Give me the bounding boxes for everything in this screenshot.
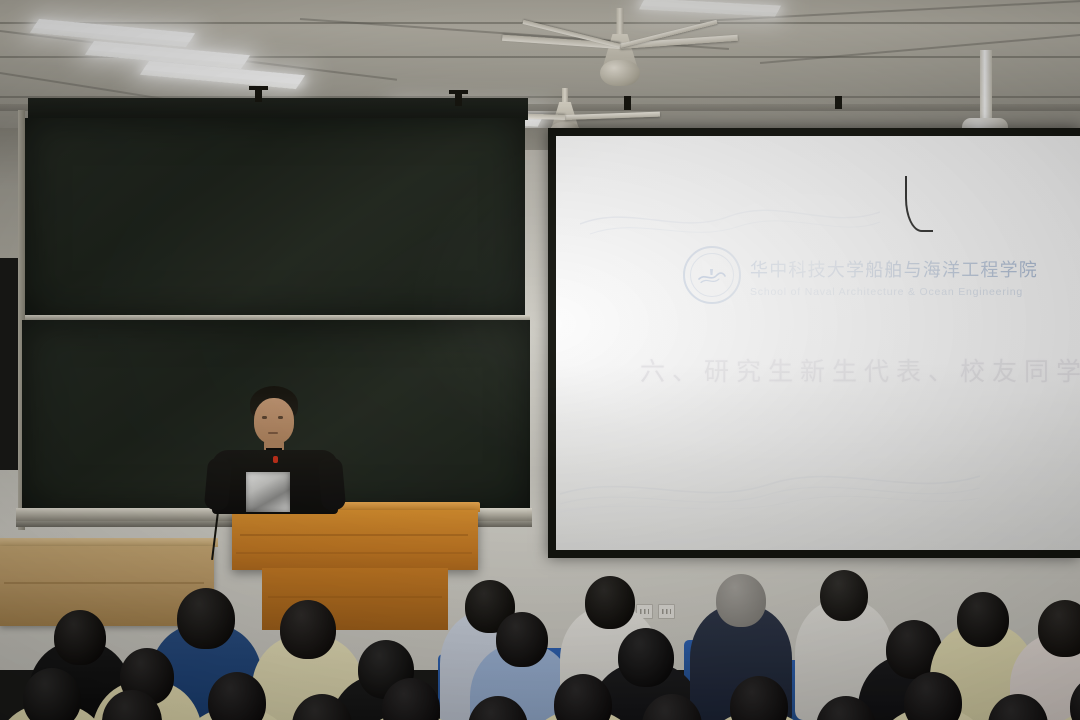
attendee-head <box>642 694 702 720</box>
ceiling-hook <box>624 96 631 110</box>
slide-organization-en: School of Naval Architecture & Ocean Eng… <box>750 286 1023 298</box>
attendee-head <box>554 674 612 720</box>
hust-naval-school-emblem <box>683 246 741 304</box>
ceiling-fan <box>560 8 680 78</box>
attendee-head <box>820 570 868 621</box>
attendee-head <box>816 696 876 720</box>
wall-power-outlet[interactable] <box>658 604 675 619</box>
speaker-eye <box>262 416 267 419</box>
attendee-b2 <box>72 690 192 720</box>
attendee-head <box>177 588 235 649</box>
attendee-head <box>988 694 1048 720</box>
projector-mount-pole <box>980 50 992 124</box>
attendee-head <box>382 678 440 720</box>
attendee-head <box>957 592 1009 647</box>
speaker-shirt-graphic <box>246 472 290 512</box>
slide-organization-cn: 华中科技大学船舶与海洋工程学院 <box>750 256 1038 282</box>
attendee-head <box>730 676 788 720</box>
attendee-head <box>468 696 528 720</box>
attendee-head <box>585 576 635 629</box>
speaker-lapel-mic <box>273 456 278 463</box>
speaker-head <box>254 398 294 444</box>
attendee-head <box>280 600 336 659</box>
attendee-head <box>292 694 352 720</box>
projection-screen-surface <box>556 136 1080 550</box>
attendee-head <box>1038 600 1080 657</box>
blackboard-top-strip <box>28 98 528 120</box>
podium <box>232 510 478 570</box>
wave-icon <box>697 266 727 286</box>
lecture-hall-photo: 华中科技大学船舶与海洋工程学院 School of Naval Architec… <box>0 0 1080 720</box>
speaker-left-arm <box>204 457 232 511</box>
ceiling-hook <box>835 96 842 109</box>
attendee-head <box>496 612 548 667</box>
attendee-head <box>208 672 266 720</box>
attendee-head <box>716 574 766 627</box>
blackboard-upper-panel <box>25 118 525 318</box>
attendee-head <box>102 690 162 720</box>
attendee-head <box>1070 676 1080 720</box>
speaker-mouth <box>268 432 278 434</box>
ceiling-hook <box>255 88 262 102</box>
attendee-b13 <box>1040 676 1080 720</box>
slide-heading: 六、研究生新生代表、校友同学发言 <box>640 352 1080 388</box>
attendee-head <box>904 672 962 720</box>
ceiling-hook <box>249 86 268 90</box>
speaker-right-arm <box>318 457 346 511</box>
speaker-eye <box>278 416 283 419</box>
ceiling-hook <box>449 90 468 94</box>
ceiling-hook <box>455 92 462 106</box>
